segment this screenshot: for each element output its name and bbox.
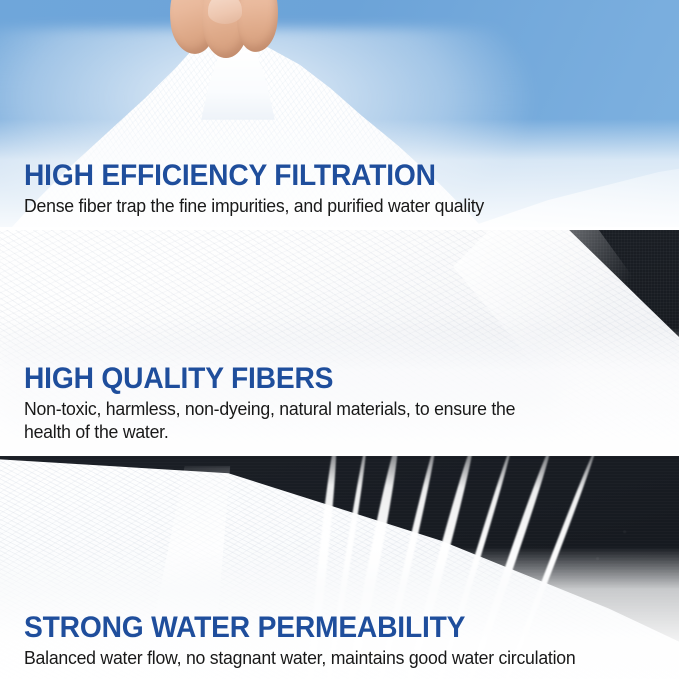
caption-strong-water-permeability: STRONG WATER PERMEABILITY Balanced water…: [0, 612, 679, 679]
panel-separator: [0, 227, 679, 230]
panel-body-line: Balanced water flow, no stagnant water, …: [24, 646, 650, 669]
panel-headline: STRONG WATER PERMEABILITY: [24, 612, 640, 644]
panel-body-line: health of the water.: [24, 420, 650, 443]
caption-high-quality-fibers: HIGH QUALITY FIBERS Non-toxic, harmless,…: [0, 363, 679, 453]
hand-icon: [168, 0, 294, 66]
panel-body: Balanced water flow, no stagnant water, …: [24, 646, 650, 669]
panel-body-line: Dense fiber trap the fine impurities, an…: [24, 194, 650, 217]
caption-high-efficiency-filtration: HIGH EFFICIENCY FILTRATION Dense fiber t…: [0, 160, 679, 227]
feature-panel-high-quality-fibers: HIGH QUALITY FIBERS Non-toxic, harmless,…: [0, 230, 679, 453]
product-feature-infographic: HIGH EFFICIENCY FILTRATION Dense fiber t…: [0, 0, 679, 679]
feature-panel-high-efficiency-filtration: HIGH EFFICIENCY FILTRATION Dense fiber t…: [0, 0, 679, 227]
panel-body-line: Non-toxic, harmless, non-dyeing, natural…: [24, 397, 650, 420]
panel-headline: HIGH QUALITY FIBERS: [24, 363, 640, 395]
panel-body: Non-toxic, harmless, non-dyeing, natural…: [24, 397, 650, 443]
panel-headline: HIGH EFFICIENCY FILTRATION: [24, 160, 640, 192]
panel-separator: [0, 453, 679, 456]
fingernail: [208, 0, 242, 24]
feature-panel-strong-water-permeability: STRONG WATER PERMEABILITY Balanced water…: [0, 456, 679, 679]
panel-body: Dense fiber trap the fine impurities, an…: [24, 194, 650, 217]
